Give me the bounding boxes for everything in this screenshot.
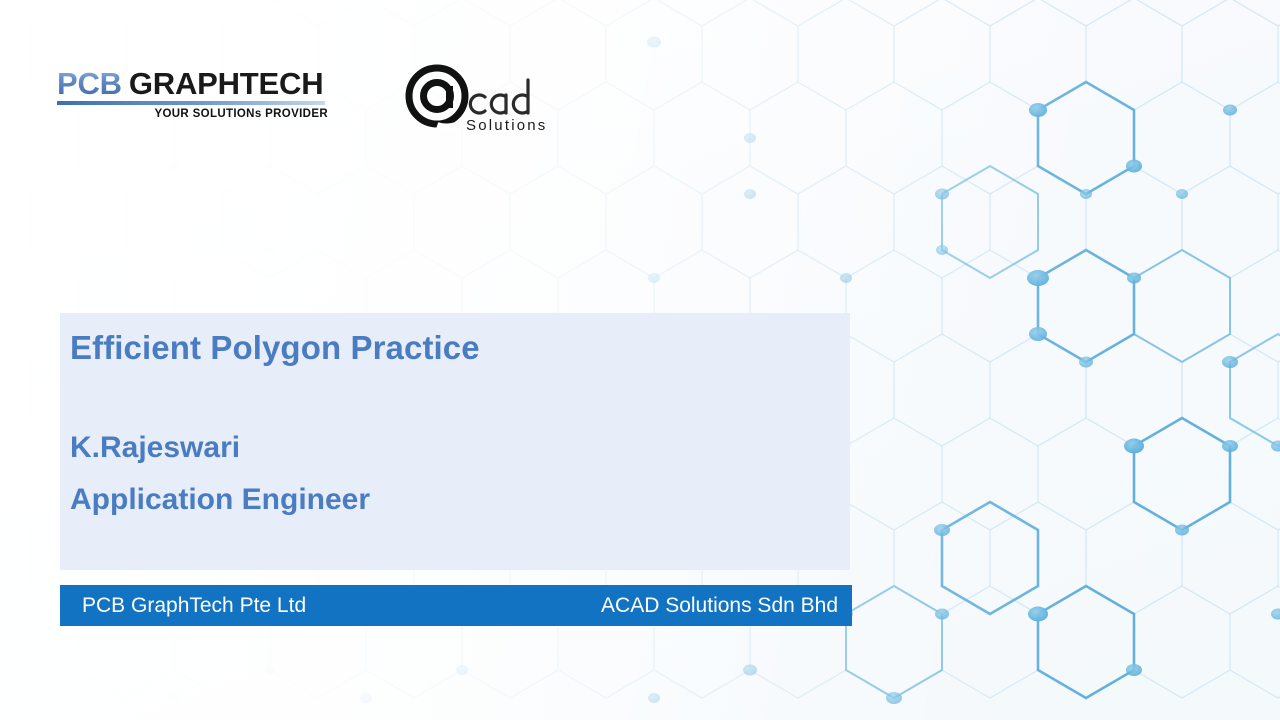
footer-right-company: ACAD Solutions Sdn Bhd [601, 594, 838, 618]
pcb-logo-primary-text: PCB [57, 66, 122, 101]
pcb-graphtech-logo: PCBGRAPHTECH YOUR SOLUTIONs PROVIDER [57, 68, 329, 120]
acad-wordmark [470, 80, 528, 113]
pcb-wordmark: PCBGRAPHTECH [57, 68, 329, 99]
title-content-panel: Efficient Polygon Practice K.Rajeswari A… [60, 313, 850, 570]
pcb-logo-underline [57, 101, 325, 105]
page-title: Efficient Polygon Practice [70, 329, 480, 367]
footer-left-company: PCB GraphTech Pte Ltd [82, 594, 306, 618]
presenter-name: K.Rajeswari [70, 431, 240, 465]
at-symbol-icon [409, 68, 465, 127]
pcb-logo-tagline: YOUR SOLUTIONs PROVIDER [57, 108, 329, 120]
presenter-role: Application Engineer [70, 483, 370, 517]
presentation-slide: PCBGRAPHTECH YOUR SOLUTIONs PROVIDER [0, 0, 1280, 720]
logo-row: PCBGRAPHTECH YOUR SOLUTIONs PROVIDER [0, 0, 1280, 160]
acad-subtext: Solutions [466, 117, 548, 134]
acad-solutions-logo: Solutions [402, 62, 567, 136]
pcb-logo-secondary-text: GRAPHTECH [129, 66, 324, 101]
footer-bar: PCB GraphTech Pte Ltd ACAD Solutions Sdn… [60, 585, 852, 626]
